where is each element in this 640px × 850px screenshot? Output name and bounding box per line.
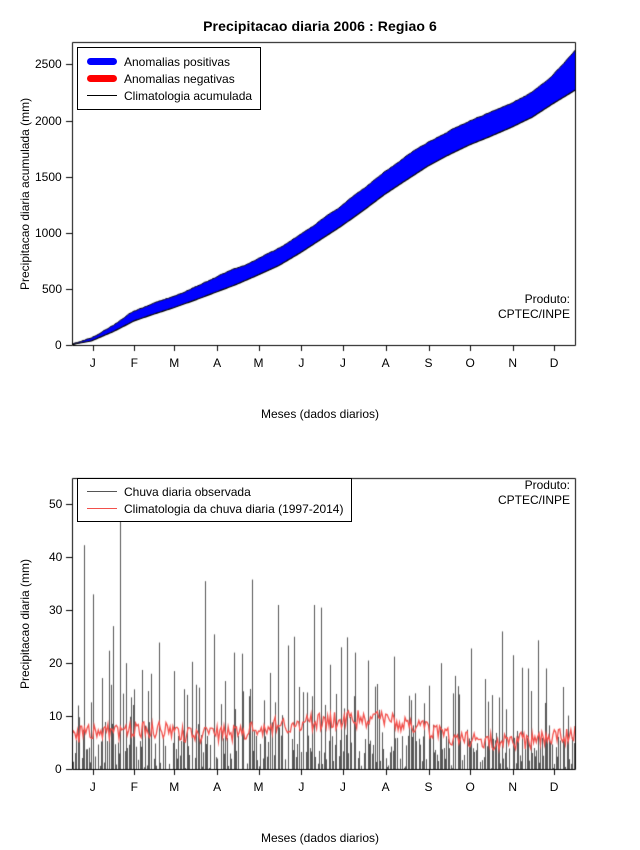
accumulated-precipitation-panel: Precipitacao diaria 2006 : Regiao 6 Prec…: [0, 0, 640, 430]
legend-item-accumulated-climatology: Climatologia acumulada: [80, 87, 252, 104]
axis-tick-label: 0: [55, 338, 62, 352]
legend-label: Anomalias negativas: [124, 72, 235, 86]
axis-tick-label: 20: [49, 656, 62, 670]
producer-name: CPTEC/INPE: [0, 493, 570, 508]
axis-tick-label: 1000: [35, 226, 62, 240]
axis-tick-label: S: [425, 780, 433, 794]
axis-tick-label: 1500: [35, 170, 62, 184]
axis-tick-label: D: [550, 356, 559, 370]
axis-tick-label: O: [465, 780, 474, 794]
legend-label: Anomalias positivas: [124, 55, 230, 69]
producer-name: CPTEC/INPE: [0, 307, 570, 322]
axis-tick-label: J: [298, 356, 304, 370]
top-legend: Anomalias positivas Anomalias negativas …: [77, 47, 261, 110]
axis-tick-label: J: [340, 780, 346, 794]
axis-tick-label: S: [425, 356, 433, 370]
axis-tick-label: A: [213, 780, 221, 794]
legend-label: Climatologia acumulada: [124, 89, 252, 103]
axis-tick-label: A: [213, 356, 221, 370]
axis-tick-label: M: [169, 780, 179, 794]
axis-tick-label: M: [254, 356, 264, 370]
axis-tick-label: 0: [55, 762, 62, 776]
producer-label: Produto:: [0, 478, 570, 493]
axis-tick-label: A: [382, 780, 390, 794]
bottom-y-axis-label: Precipitacao diaria (mm): [18, 558, 32, 688]
top-x-axis-label: Meses (dados diarios): [0, 407, 640, 421]
axis-tick-label: 40: [49, 550, 62, 564]
axis-tick-label: O: [465, 356, 474, 370]
axis-tick-label: J: [340, 356, 346, 370]
axis-tick-label: J: [90, 780, 96, 794]
axis-tick-label: D: [550, 780, 559, 794]
axis-tick-label: F: [131, 780, 138, 794]
bottom-producer-annotation: Produto: CPTEC/INPE: [0, 478, 570, 508]
top-producer-annotation: Produto: CPTEC/INPE: [0, 292, 570, 322]
axis-tick-label: J: [298, 780, 304, 794]
legend-item-positive-anomalies: Anomalias positivas: [80, 53, 252, 70]
plot-page: Precipitacao diaria 2006 : Regiao 6 Prec…: [0, 0, 640, 850]
top-y-axis-label: Precipitacao diaria acumulada (mm): [18, 97, 32, 289]
black-thin-line-icon: [80, 95, 124, 96]
axis-tick-label: 500: [42, 282, 62, 296]
red-thin-line-icon: [80, 508, 124, 509]
producer-label: Produto:: [0, 292, 570, 307]
axis-tick-label: M: [169, 356, 179, 370]
axis-tick-label: F: [131, 356, 138, 370]
axis-tick-label: A: [382, 356, 390, 370]
red-thick-line-icon: [80, 75, 124, 82]
daily-precipitation-panel: Precipitacao diaria (mm) Meses (dados di…: [0, 430, 640, 850]
axis-tick-label: 50: [49, 497, 62, 511]
axis-tick-label: 2500: [35, 57, 62, 71]
axis-tick-label: 10: [49, 709, 62, 723]
axis-tick-label: M: [254, 780, 264, 794]
axis-tick-label: 2000: [35, 114, 62, 128]
legend-item-negative-anomalies: Anomalias negativas: [80, 70, 252, 87]
blue-thick-line-icon: [80, 58, 124, 65]
axis-tick-label: N: [508, 356, 517, 370]
axis-tick-label: J: [90, 356, 96, 370]
bottom-x-axis-label: Meses (dados diarios): [0, 831, 640, 845]
axis-tick-label: 30: [49, 603, 62, 617]
axis-tick-label: N: [508, 780, 517, 794]
